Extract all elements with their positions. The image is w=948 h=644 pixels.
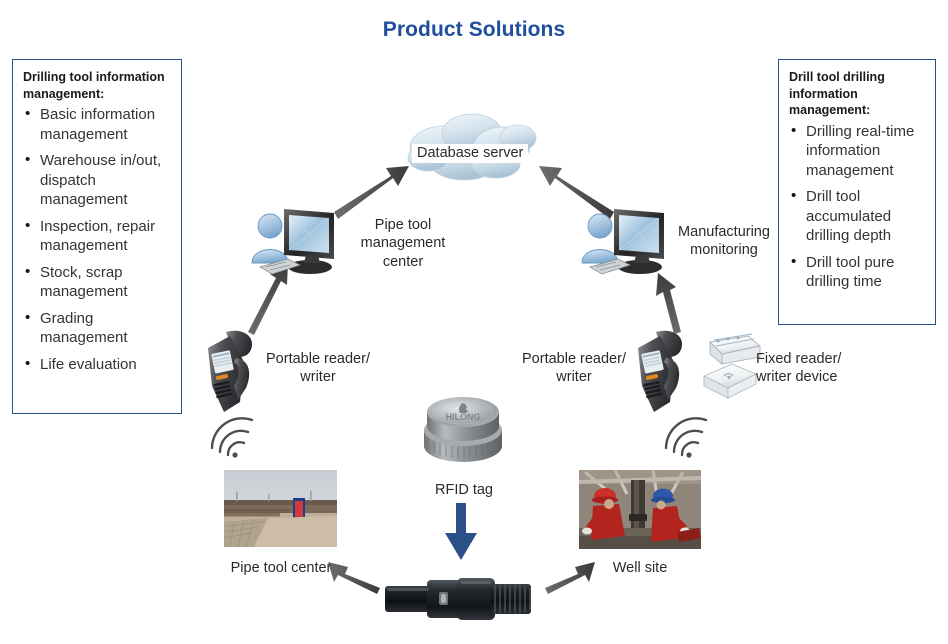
right-info-box-heading: Drill tool drilling information manageme… xyxy=(789,69,925,119)
portable-reader-left-label: Portable reader/ writer xyxy=(262,350,374,387)
drill-pipe-node xyxy=(385,572,537,626)
pipe-tool-center-photo xyxy=(224,470,337,547)
arrow-handheld-right-to-workstation xyxy=(656,273,681,334)
diagram-canvas: Product Solutions xyxy=(0,0,948,644)
user-computer-icon xyxy=(578,203,674,281)
portable-reader-left-node xyxy=(200,328,262,418)
page-title: Product Solutions xyxy=(0,18,948,42)
database-server-node: Database server xyxy=(398,108,546,188)
portable-reader-right-node xyxy=(630,328,692,418)
right-info-box: Drill tool drilling information manageme… xyxy=(778,59,936,325)
list-item: Warehouse in/out, dispatch management xyxy=(23,151,171,210)
fixed-reader-label: Fixed reader/ writer device xyxy=(756,350,876,387)
left-info-box-heading: Drilling tool information management: xyxy=(23,69,171,102)
well-site-label: Well site xyxy=(585,559,695,577)
pipe-tool-center-label: Pipe tool center xyxy=(215,559,347,577)
list-item: Drill tool pure drilling time xyxy=(789,253,925,292)
pipe-tool-management-center-node xyxy=(248,203,344,281)
left-info-box-list: Basic information management Warehouse i… xyxy=(23,105,171,374)
user-computer-icon xyxy=(248,203,344,281)
database-server-label: Database server xyxy=(412,144,528,163)
manufacturing-monitoring-label: Manufacturing monitoring xyxy=(670,223,778,260)
rfid-tag-node: HILONG xyxy=(418,388,508,466)
wifi-signal-right xyxy=(662,414,714,460)
list-item: Basic information management xyxy=(23,105,171,144)
list-item: Inspection, repair management xyxy=(23,217,171,256)
well-site-photo xyxy=(579,470,701,549)
wifi-signal-icon xyxy=(208,414,260,460)
right-info-box-list: Drilling real-time information managemen… xyxy=(789,122,925,292)
pipe-yard-photo xyxy=(224,470,337,547)
wifi-signal-left xyxy=(208,414,260,460)
arrow-rfid-to-drillpipe xyxy=(445,503,477,560)
list-item: Life evaluation xyxy=(23,355,171,375)
well-site-workers-photo xyxy=(579,470,701,549)
portable-reader-right-label: Portable reader/ writer xyxy=(518,350,630,387)
drill-pipe-joint-icon xyxy=(385,572,537,626)
list-item: Drill tool accumulated drilling depth xyxy=(789,187,925,246)
rfid-tag-icon: HILONG xyxy=(418,388,508,466)
left-info-box: Drilling tool information management: Ba… xyxy=(12,59,182,414)
list-item: Grading management xyxy=(23,309,171,348)
rfid-tag-brand-text: HILONG xyxy=(446,412,481,422)
manufacturing-monitoring-node xyxy=(578,203,674,281)
rfid-tag-label: RFID tag xyxy=(405,481,523,499)
list-item: Stock, scrap management xyxy=(23,263,171,302)
pipe-tool-management-center-label: Pipe tool management center xyxy=(352,216,454,271)
list-item: Drilling real-time information managemen… xyxy=(789,122,925,181)
handheld-rfid-reader-icon xyxy=(200,328,262,418)
wifi-signal-icon xyxy=(662,414,714,460)
handheld-rfid-reader-icon xyxy=(630,328,692,418)
